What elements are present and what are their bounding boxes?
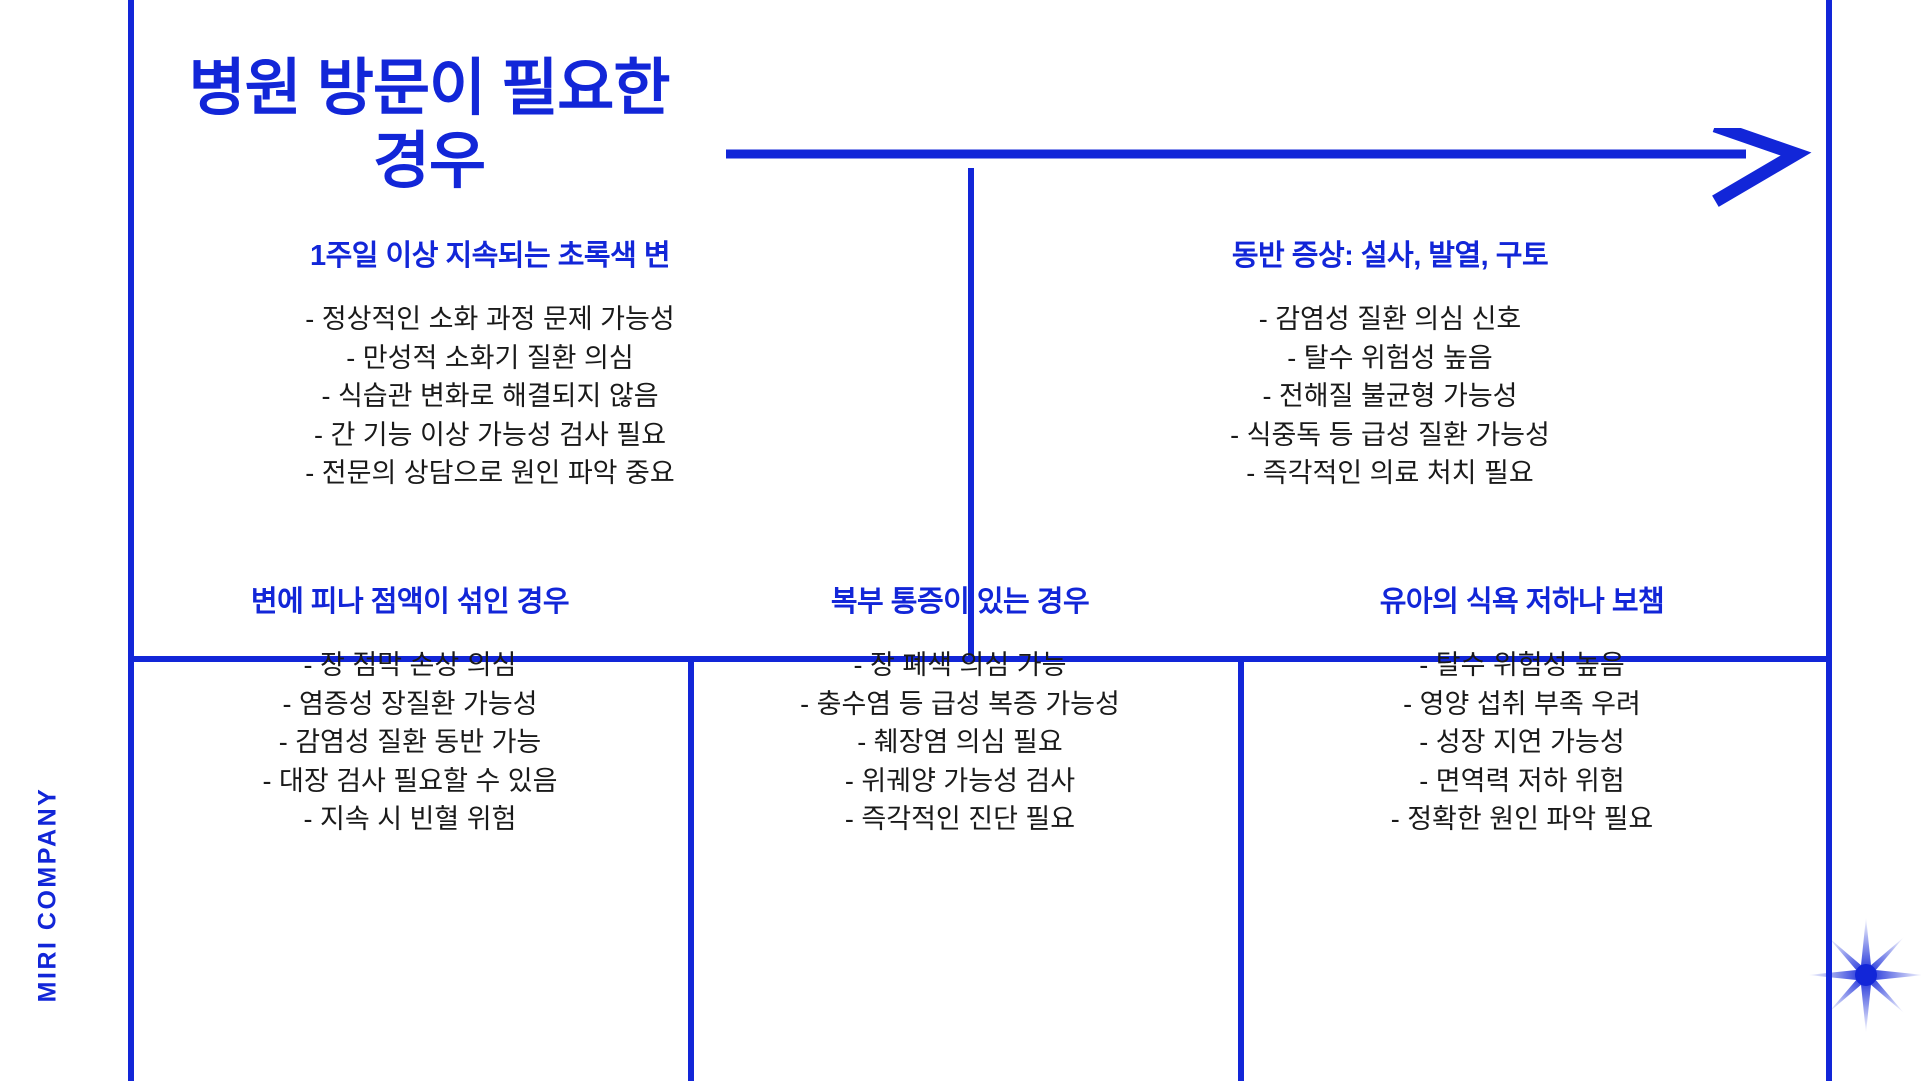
list-item: - 췌장염 의심 필요	[700, 723, 1220, 762]
section-heading-4: 복부 통증이 있는 경우	[700, 578, 1220, 620]
section-list-4: - 장 폐색 의심 가능 - 충수염 등 급성 복증 가능성 - 췌장염 의심 …	[700, 646, 1220, 839]
list-item: - 대장 검사 필요할 수 있음	[150, 762, 670, 801]
list-item: - 성장 지연 가능성	[1252, 723, 1792, 762]
list-item: - 정상적인 소화 과정 문제 가능성	[190, 300, 790, 339]
section-list-3: - 장 점막 손상 의심 - 염증성 장질환 가능성 - 감염성 질환 동반 가…	[150, 646, 670, 839]
list-item: - 장 점막 손상 의심	[150, 646, 670, 685]
slide-canvas: 병원 방문이 필요한 경우 MIRI COMPANY	[0, 0, 1921, 1081]
list-item: - 감염성 질환 동반 가능	[150, 723, 670, 762]
section-card-4: 복부 통증이 있는 경우 - 장 폐색 의심 가능 - 충수염 등 급성 복증 …	[700, 578, 1220, 839]
page-title-line-1: 병원 방문이 필요한	[134, 52, 724, 125]
bottom-row-divider-line-2	[1238, 662, 1244, 1081]
bottom-row-divider-line-1	[688, 662, 694, 1081]
list-item: - 지속 시 빈혈 위험	[150, 800, 670, 839]
list-item: - 영양 섭취 부족 우려	[1252, 685, 1792, 724]
list-item: - 위궤양 가능성 검사	[700, 762, 1220, 801]
list-item: - 식습관 변화로 해결되지 않음	[190, 377, 790, 416]
page-title: 병원 방문이 필요한 경우	[134, 52, 724, 198]
list-item: - 면역력 저하 위험	[1252, 762, 1792, 801]
list-item: - 탈수 위험성 높음	[1252, 646, 1792, 685]
list-item: - 전해질 불균형 가능성	[1010, 377, 1770, 416]
list-item: - 즉각적인 진단 필요	[700, 800, 1220, 839]
right-arrow-icon	[726, 128, 1816, 214]
section-heading-3: 변에 피나 점액이 섞인 경우	[150, 578, 670, 620]
section-card-2: 동반 증상: 설사, 발열, 구토 - 감염성 질환 의심 신호 - 탈수 위험…	[1010, 232, 1770, 493]
section-heading-1: 1주일 이상 지속되는 초록색 변	[190, 232, 790, 274]
list-item: - 즉각적인 의료 처치 필요	[1010, 454, 1770, 493]
section-card-3: 변에 피나 점액이 섞인 경우 - 장 점막 손상 의심 - 염증성 장질환 가…	[150, 578, 670, 839]
list-item: - 탈수 위험성 높음	[1010, 339, 1770, 378]
section-list-1: - 정상적인 소화 과정 문제 가능성 - 만성적 소화기 질환 의심 - 식습…	[190, 300, 790, 493]
section-list-5: - 탈수 위험성 높음 - 영양 섭취 부족 우려 - 성장 지연 가능성 - …	[1252, 646, 1792, 839]
section-card-1: 1주일 이상 지속되는 초록색 변 - 정상적인 소화 과정 문제 가능성 - …	[190, 232, 790, 493]
list-item: - 염증성 장질환 가능성	[150, 685, 670, 724]
list-item: - 정확한 원인 파악 필요	[1252, 800, 1792, 839]
section-list-2: - 감염성 질환 의심 신호 - 탈수 위험성 높음 - 전해질 불균형 가능성…	[1010, 300, 1770, 493]
section-heading-2: 동반 증상: 설사, 발열, 구토	[1010, 232, 1770, 274]
list-item: - 장 폐색 의심 가능	[700, 646, 1220, 685]
section-card-5: 유아의 식욕 저하나 보챔 - 탈수 위험성 높음 - 영양 섭취 부족 우려 …	[1252, 578, 1792, 839]
list-item: - 식중독 등 급성 질환 가능성	[1010, 416, 1770, 455]
list-item: - 감염성 질환 의심 신호	[1010, 300, 1770, 339]
list-item: - 간 기능 이상 가능성 검사 필요	[190, 416, 790, 455]
sparkle-star-icon	[1806, 915, 1921, 1035]
list-item: - 전문의 상담으로 원인 파악 중요	[190, 454, 790, 493]
list-item: - 충수염 등 급성 복증 가능성	[700, 685, 1220, 724]
list-item: - 만성적 소화기 질환 의심	[190, 339, 790, 378]
page-title-line-2: 경우	[134, 125, 724, 198]
section-heading-5: 유아의 식욕 저하나 보챔	[1252, 578, 1792, 620]
brand-label: MIRI COMPANY	[34, 785, 63, 1005]
